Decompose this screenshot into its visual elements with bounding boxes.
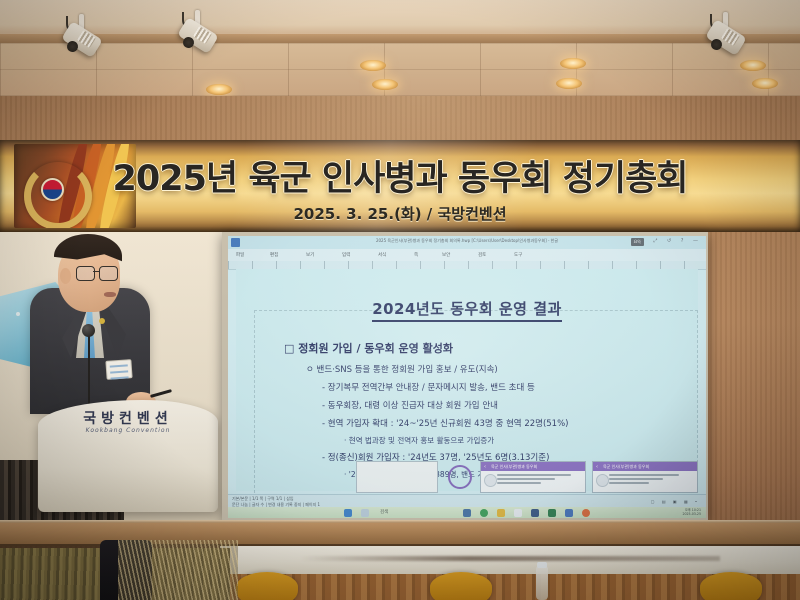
menu-item-tools[interactable]: 도구: [514, 252, 522, 258]
avatar: [484, 474, 497, 487]
stage-spotlight-icon: [706, 12, 746, 58]
downlight-icon: [360, 60, 386, 71]
view-controls[interactable]: ▢ ▤ ▣ ▦ ⎯: [651, 499, 700, 504]
windows-taskbar[interactable]: 검색 오후 10:21 2025-03-25: [228, 507, 706, 518]
stage-spotlight-icon: [178, 10, 218, 56]
slide-title: 2024년도 동우회 운영 결과: [228, 298, 706, 319]
bullet-subitem: · 현역 법과장 및 전역자 홍보 활동으로 가입증가: [344, 435, 694, 446]
speaker-mouth: [104, 292, 116, 297]
explorer-icon[interactable]: [497, 509, 505, 517]
menu-item-insert[interactable]: 입력: [342, 252, 350, 258]
menu-item-security[interactable]: 보안: [442, 252, 450, 258]
front-table: [220, 546, 800, 576]
slide-title-text: 2024년도 동우회 운영 결과: [372, 300, 562, 322]
powerpoint-icon[interactable]: [565, 509, 573, 517]
taskbar-search-label[interactable]: 검색: [380, 509, 388, 515]
stage-spotlight-icon: [62, 14, 102, 60]
downlight-icon: [556, 78, 582, 89]
banner-subtitle: 2025. 3. 25.(화) / 국방컨벤션: [0, 203, 800, 224]
bullet-item: - 현역 가입자 확대 : '24~'25년 신규회원 43명 중 현역 22명…: [322, 417, 694, 429]
ceiling-soffit: [0, 34, 800, 43]
thumbnail-band-screenshot: ‹육군 인사(부관)병과 동우회: [480, 461, 586, 493]
excel-icon[interactable]: [548, 509, 556, 517]
bullet-heading: □ 정회원 가입 / 동우회 운영 활성화: [284, 340, 694, 356]
slide-thumbnail-row: ‹육군 인사(부관)병과 동우회 ‹육군 인사(부관)병과 동우회: [356, 461, 696, 491]
downlight-icon: [372, 79, 398, 90]
spacer-icon: [378, 509, 454, 517]
eyeglasses-icon: [76, 266, 116, 279]
speaker-ear: [60, 268, 71, 284]
menu-item-file[interactable]: 파일: [236, 252, 244, 258]
start-icon[interactable]: [344, 509, 352, 517]
taskbar-clock[interactable]: 오후 10:21 2025-03-25: [682, 508, 701, 516]
app-title-bar: 2025 육군인사(부관)병과 동우회 정기총회 회의록.hwp [C:\Use…: [228, 236, 706, 249]
ceiling: [0, 0, 800, 96]
ceiling-tile-grid: [0, 43, 800, 96]
table-reflection: [300, 556, 720, 561]
band-icon[interactable]: [582, 509, 590, 517]
chrome-icon[interactable]: [480, 509, 488, 517]
banner-title: 2025년 육군 인사병과 동우회 정기총회: [0, 150, 800, 201]
bullet-item: - 장기복무 전역간부 안내장 / 문자메시지 발송, 밴드 초대 등: [322, 381, 694, 393]
stage-edge: [0, 520, 800, 523]
menu-item-view[interactable]: 보기: [306, 252, 314, 258]
thumbnail-header-text: 육군 인사(부관)병과 동우회: [491, 464, 537, 469]
taskbar-icon-group[interactable]: [228, 507, 706, 518]
audience-chair: [236, 572, 298, 600]
downlight-icon: [560, 58, 586, 69]
downlight-icon: [752, 78, 778, 89]
taskview-icon[interactable]: [463, 509, 471, 517]
conference-photo-scene: 2025년 육군 인사병과 동우회 정기총회 2025. 3. 25.(화) /…: [0, 0, 800, 600]
microphone-icon: [82, 324, 95, 337]
thumbnail-band-screenshot: ‹육군 인사(부관)병과 동우회: [592, 461, 698, 493]
bullet-item: - 동우회장, 대령 이상 진급자 대상 회원 가입 안내: [322, 399, 694, 411]
bottle-cap: [537, 562, 547, 568]
thumbnail-blank: [356, 461, 438, 493]
microphone-stand: [88, 330, 90, 414]
menu-item-review[interactable]: 검토: [478, 252, 486, 258]
audience-chair: [700, 572, 762, 600]
hwp-icon[interactable]: [531, 509, 539, 517]
thumbnail-header-text: 육군 인사(부관)병과 동우회: [603, 464, 649, 469]
menu-item-page[interactable]: 쪽: [414, 252, 418, 258]
clock-date: 2025-03-25: [682, 512, 701, 516]
water-bottle: [536, 566, 548, 600]
thumbnail-logo-icon: [448, 465, 472, 489]
menu-item-format[interactable]: 서식: [378, 252, 386, 258]
downlight-icon: [206, 84, 232, 95]
podium-sign-text: 국방컨벤션: [38, 408, 218, 428]
edge-icon[interactable]: [514, 509, 522, 517]
bullet-item: ㅇ 밴드·SNS 등을 통한 정회원 가입 홍보 / 유도(지속): [306, 363, 694, 375]
projection-screen: 2025 육군인사(부관)병과 동우회 정기총회 회의록.hwp [C:\Use…: [228, 236, 706, 518]
menu-item-edit[interactable]: 편집: [270, 252, 278, 258]
downlight-icon: [740, 60, 766, 71]
podium-sign-subtext: Kookbang Convention: [38, 427, 218, 434]
app-status-bar: 기본/본문 | 1/1 쪽 | 구역 1/1 | 삽입 문단 나눔 | 글자 수…: [228, 494, 706, 508]
audience-chair: [430, 572, 492, 600]
lapel-pin-icon: [99, 318, 105, 324]
avatar: [596, 474, 609, 487]
foreground-cables: [118, 540, 238, 600]
search-icon[interactable]: [361, 509, 369, 517]
name-badge: [105, 359, 132, 380]
window-controls[interactable]: ⊖ ⤢ ↺ ? —: [640, 238, 702, 244]
